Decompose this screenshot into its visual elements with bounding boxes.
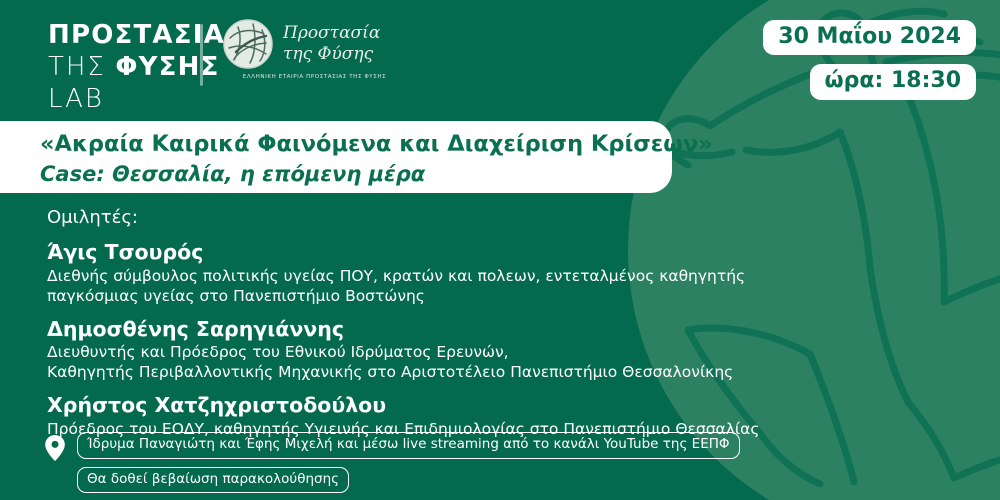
- event-title-plate: «Ακραία Καιρικά Φαινόμενα και Διαχείριση…: [0, 121, 672, 193]
- speakers-label: Ομιλητές:: [47, 207, 807, 228]
- organization-name-line-1: Προστασία: [283, 23, 380, 44]
- time-badge: ώρα: 18:30: [810, 64, 976, 99]
- speakers-section: Ομιλητές: Άγις Τσουρός Διεθνής σύμβουλος…: [47, 207, 807, 449]
- brand-line-3: LAB: [48, 86, 225, 112]
- event-datetime-badges: 30 Μαΐου 2024 ώρα: 18:30: [763, 20, 976, 100]
- speaker-entry: Δημοσθένης Σαρηγιάννης Διευθυντής και Πρ…: [47, 316, 807, 384]
- organization-name-line-2: της Φύσης: [283, 44, 380, 65]
- speaker-entry: Άγις Τσουρός Διεθνής σύμβουλος πολιτικής…: [47, 239, 807, 307]
- brand-line-2-bold: ΦΥΣΗΣ: [115, 52, 219, 82]
- speaker-bio-line: Καθηγητής Περιβαλλοντικής Μηχανικής στο …: [47, 363, 807, 383]
- event-title: «Ακραία Καιρικά Φαινόμενα και Διαχείριση…: [40, 130, 672, 159]
- eepf-circular-emblem-icon: [222, 18, 274, 70]
- speaker-bio-line: Διευθυντής και Πρόεδρος του Εθνικού Ιδρύ…: [47, 343, 807, 363]
- footer-badges: Ίδρυμα Παναγιώτη και Έφης Μιχελή και μέσ…: [77, 432, 740, 493]
- speaker-bio-line: Διεθνής σύμβουλος πολιτικής υγείας ΠΟΥ, …: [47, 267, 807, 287]
- map-pin-icon: [44, 434, 66, 462]
- poster-header: ΠΡΟΣΤΑΣΙΑ ΤΗΣ ΦΥΣΗΣ LAB: [0, 0, 1000, 110]
- brand-line-1: ΠΡΟΣΤΑΣΙΑ: [48, 22, 225, 48]
- venue-badge: Ίδρυμα Παναγιώτη και Έφης Μιχελή και μέσ…: [77, 432, 740, 459]
- organization-lockup: Προστασία της Φύσης ΕΛΛΗΝΙΚΗ ΕΤΑΙΡΙΑ ΠΡΟ…: [222, 18, 422, 80]
- event-poster: ΠΡΟΣΤΑΣΙΑ ΤΗΣ ΦΥΣΗΣ LAB: [0, 0, 1000, 500]
- speaker-bio-line: παγκόσμιας υγείας στο Πανεπιστήμιο Βοστώ…: [47, 287, 807, 307]
- vertical-divider-icon: [200, 24, 203, 86]
- organization-caption: ΕΛΛΗΝΙΚΗ ΕΤΑΙΡΙΑ ΠΡΟΣΤΑΣΙΑΣ ΤΗΣ ΦΥΣΗΣ: [222, 74, 407, 80]
- organization-name: Προστασία της Φύσης: [283, 23, 380, 66]
- certificate-badge: Θα δοθεί βεβαίωση παρακολούθησης: [77, 467, 349, 494]
- brand-line-2: ΤΗΣ ΦΥΣΗΣ: [48, 54, 225, 80]
- event-subtitle: Case: Θεσσαλία, η επόμενη μέρα: [40, 160, 672, 188]
- speaker-name: Χρήστος Χατζηχριστοδούλου: [47, 392, 807, 420]
- speaker-name: Δημοσθένης Σαρηγιάννης: [47, 316, 807, 344]
- speaker-name: Άγις Τσουρός: [47, 239, 807, 267]
- date-badge: 30 Μαΐου 2024: [763, 20, 976, 55]
- brand-lockup: ΠΡΟΣΤΑΣΙΑ ΤΗΣ ΦΥΣΗΣ LAB: [48, 22, 225, 112]
- poster-footer: Ίδρυμα Παναγιώτη και Έφης Μιχελή και μέσ…: [44, 432, 744, 493]
- brand-line-2-light: ΤΗΣ: [48, 52, 106, 82]
